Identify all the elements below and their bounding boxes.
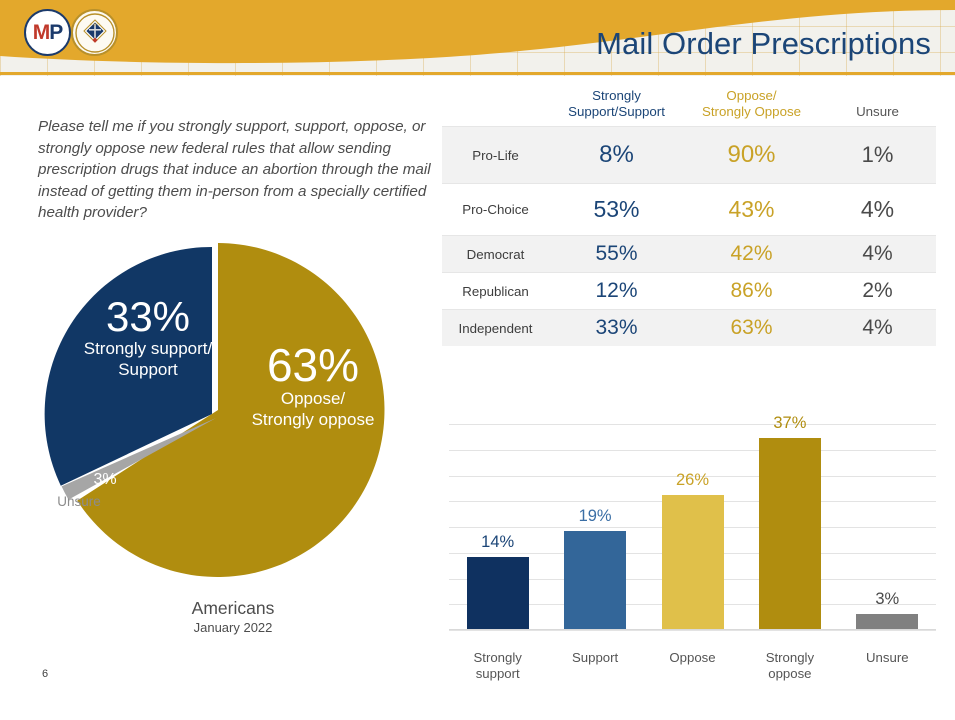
bar-value-label: 3% [856,590,918,609]
bar-category-line: support [455,666,541,682]
bar[interactable] [856,614,918,629]
bar-category-label: Oppose [650,650,736,666]
bar-chart: 14%Stronglysupport19%Support26%Oppose37%… [449,414,936,676]
kofc-emblem-icon: K of C [75,13,115,53]
pie-label-support-pct: 33% [58,296,238,339]
table-header-row: Strongly Support/Support Oppose/ Strongl… [442,86,936,127]
pie-label-oppose: 63% Oppose/ Strongly oppose [213,342,413,430]
gridline [449,450,936,451]
pie-label-unsure-pct: 3% [78,471,132,489]
bar-category-label: Strongly oppose [747,650,833,682]
table-row: Democrat 55% 42% 4% [442,236,936,273]
svg-text:K of C: K of C [90,22,100,26]
marist-poll-logo: MP [24,9,71,56]
bar-value-label: 37% [759,414,821,433]
bar-category-line: Support [552,650,638,666]
table-header-support-l1: Strongly [553,88,680,104]
table-header-unsure: Unsure [819,86,936,127]
pie-label-support: 33% Strongly support/ Support [58,296,238,380]
table-row: Pro-Life 8% 90% 1% [442,127,936,184]
table-cell-unsure: 4% [819,310,936,347]
bar-value-label: 14% [467,533,529,552]
pie-label-support-l1: Strongly support/ [58,339,238,360]
crosstab-table: Strongly Support/Support Oppose/ Strongl… [442,86,936,346]
table-cell-unsure: 4% [819,184,936,236]
bar-chart-plot: 14%Stronglysupport19%Support26%Oppose37%… [449,424,936,630]
pie-caption-population: Americans [88,598,378,620]
table-cell-oppose: 63% [684,310,819,347]
knights-of-columbus-icon: K of C [71,9,118,56]
pie-label-oppose-l2: Strongly oppose [213,410,413,431]
table-cell-category: Republican [442,273,549,310]
table-cell-support: 53% [549,184,684,236]
bar-category-label: Support [552,650,638,666]
table-cell-oppose: 43% [684,184,819,236]
pie-caption-date: January 2022 [88,620,378,635]
pie-label-oppose-l1: Oppose/ [213,389,413,410]
table-cell-support: 12% [549,273,684,310]
table-row: Pro-Choice 53% 43% 4% [442,184,936,236]
table-cell-support: 8% [549,127,684,184]
table-cell-unsure: 2% [819,273,936,310]
bar-value-label: 26% [662,471,724,490]
bar-value-label: 19% [564,507,626,526]
table-header-oppose-l2: Strongly Oppose [688,104,815,120]
bar[interactable] [759,438,821,629]
organization-logos: MP K of C [24,9,120,56]
pie-label-oppose-pct: 63% [213,342,413,389]
table-cell-category: Independent [442,310,549,347]
table-header-oppose: Oppose/ Strongly Oppose [684,86,819,127]
page-title: Mail Order Prescriptions [596,26,931,62]
table-cell-category: Pro-Life [442,127,549,184]
pie-label-support-l2: Support [58,360,238,381]
bar-column[interactable] [856,614,918,629]
logo-letter-m: M [33,21,50,44]
table-cell-unsure: 1% [819,127,936,184]
table-cell-oppose: 42% [684,236,819,273]
table-cell-support: 55% [549,236,684,273]
bar[interactable] [467,557,529,629]
table-cell-unsure: 4% [819,236,936,273]
bar-category-line: Oppose [650,650,736,666]
bar[interactable] [564,531,626,629]
bar-column[interactable] [759,438,821,629]
bar-category-label: Unsure [844,650,930,666]
table-row: Independent 33% 63% 4% [442,310,936,347]
table-row: Republican 12% 86% 2% [442,273,936,310]
bar-column[interactable] [564,531,626,629]
table-cell-support: 33% [549,310,684,347]
table-cell-category: Democrat [442,236,549,273]
table-header-oppose-l1: Oppose/ [688,88,815,104]
pie-label-unsure: Unsure [36,494,122,509]
bar[interactable] [662,495,724,629]
table-cell-oppose: 86% [684,273,819,310]
bar-category-line: Unsure [844,650,930,666]
survey-question-text: Please tell me if you strongly support, … [38,116,442,224]
bar-column[interactable] [662,495,724,629]
table-header-blank [442,86,549,127]
pie-chart: 33% Strongly support/ Support 63% Oppose… [28,228,428,628]
table-cell-oppose: 90% [684,127,819,184]
bar-category-line: Strongly oppose [747,650,833,682]
gridline [449,630,936,631]
slide-header: MP K of C Mail Order Prescriptions [0,0,955,76]
bar-category-label: Stronglysupport [455,650,541,682]
logo-letter-p: P [49,21,62,44]
bar-column[interactable] [467,557,529,629]
bar-category-line: Strongly [455,650,541,666]
table-header-support-l2: Support/Support [553,104,680,120]
header-bottom-rule [0,72,955,75]
slide: MP K of C Mail Order Prescriptions Pleas… [0,0,955,720]
gridline [449,424,936,425]
table-cell-category: Pro-Choice [442,184,549,236]
pie-caption: Americans January 2022 [88,598,378,635]
page-number: 6 [42,668,48,680]
table-header-support: Strongly Support/Support [549,86,684,127]
